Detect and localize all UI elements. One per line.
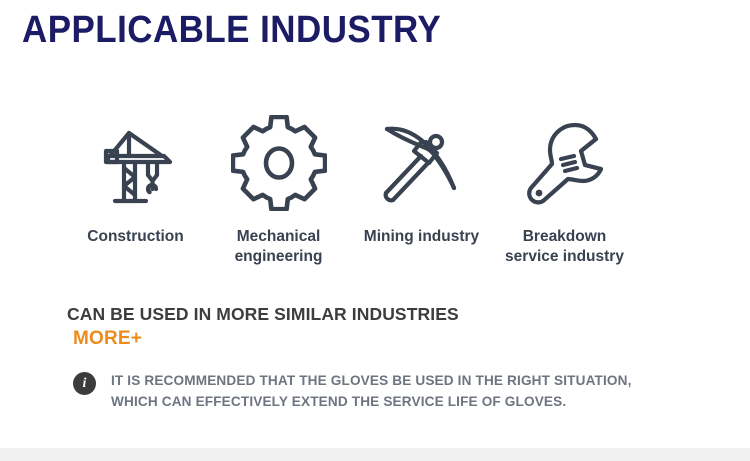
crane-icon <box>88 115 184 211</box>
note-line-1: IT IS RECOMMENDED THAT THE GLOVES BE USE… <box>111 371 632 392</box>
more-link[interactable]: MORE+ <box>73 327 142 351</box>
applicable-industry-section: APPLICABLE INDUSTRY <box>0 0 750 461</box>
note-line-2: WHICH CAN EFFECTIVELY EXTEND THE SERVICE… <box>111 392 632 413</box>
pickaxe-icon <box>374 115 470 211</box>
industry-item-mining-industry[interactable]: Mining industry <box>350 115 493 247</box>
callout-headline: CAN BE USED IN MORE SIMILAR INDUSTRIES <box>67 303 459 325</box>
industry-item-breakdown-service-industry[interactable]: Breakdown service industry <box>493 115 636 267</box>
industry-label: Breakdown service industry <box>497 227 633 267</box>
gear-icon <box>231 115 327 211</box>
info-icon: i <box>73 372 96 395</box>
industry-label: Mechanical engineering <box>211 227 347 267</box>
industry-list: Construction Mechanical engineering <box>64 115 694 267</box>
industry-label: Construction <box>87 227 183 247</box>
industry-label: Mining industry <box>364 227 479 247</box>
bottom-divider-band <box>0 448 750 461</box>
industry-item-construction[interactable]: Construction <box>64 115 207 247</box>
wrench-icon <box>517 115 613 211</box>
recommendation-note: i IT IS RECOMMENDED THAT THE GLOVES BE U… <box>73 371 632 412</box>
industry-item-mechanical-engineering[interactable]: Mechanical engineering <box>207 115 350 267</box>
note-text: IT IS RECOMMENDED THAT THE GLOVES BE USE… <box>111 371 632 412</box>
page-title: APPLICABLE INDUSTRY <box>22 8 441 52</box>
